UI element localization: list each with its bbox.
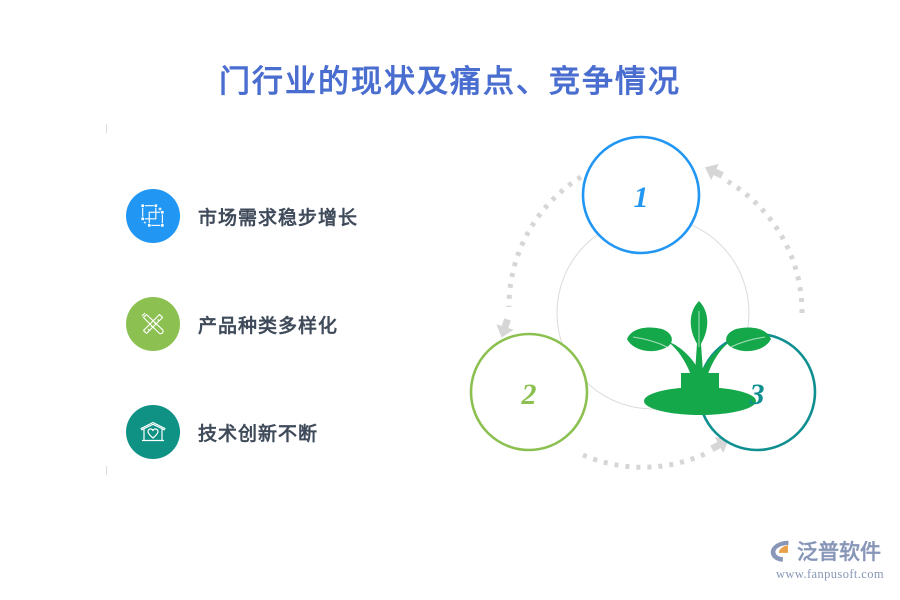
cycle-node-2-number: 2 [521, 378, 537, 411]
list-item[interactable]: 市场需求稳步增长 [126, 186, 446, 246]
arrow-path-3-to-1 [727, 181, 802, 313]
bullet-list: 市场需求稳步增长 产品种 [126, 186, 446, 462]
list-item-label: 技术创新不断 [198, 419, 318, 446]
cycle-diagram: 1 2 [455, 115, 855, 505]
logo-company-name: 泛普软件 [797, 536, 881, 566]
fanpu-logo-mark [768, 538, 794, 564]
arrow-path-1-to-2 [509, 177, 581, 307]
cycle-node-1[interactable]: 1 [583, 137, 699, 253]
house-heart-icon [126, 405, 180, 459]
decorative-tick-top [106, 124, 107, 133]
slide-canvas: 门行业的现状及痛点、竞争情况 [0, 0, 900, 600]
arrow-path-2-to-3 [583, 453, 707, 467]
cycle-node-2[interactable]: 2 [471, 334, 587, 450]
cycle-node-3-number: 3 [749, 378, 765, 411]
list-item-label: 市场需求稳步增长 [198, 203, 358, 230]
page-title: 门行业的现状及痛点、竞争情况 [0, 56, 900, 101]
transform-squares-icon [126, 189, 180, 243]
cycle-node-1-number: 1 [634, 181, 649, 214]
list-item[interactable]: 技术创新不断 [126, 402, 446, 462]
company-logo[interactable]: 泛普软件 www.fanpusoft.com [768, 536, 892, 586]
list-item-label: 产品种类多样化 [198, 311, 338, 338]
pencil-ruler-icon [126, 297, 180, 351]
decorative-tick-bottom [106, 466, 107, 475]
arrowhead-to-1 [701, 159, 726, 183]
logo-url: www.fanpusoft.com [768, 567, 892, 582]
list-item[interactable]: 产品种类多样化 [126, 294, 446, 354]
